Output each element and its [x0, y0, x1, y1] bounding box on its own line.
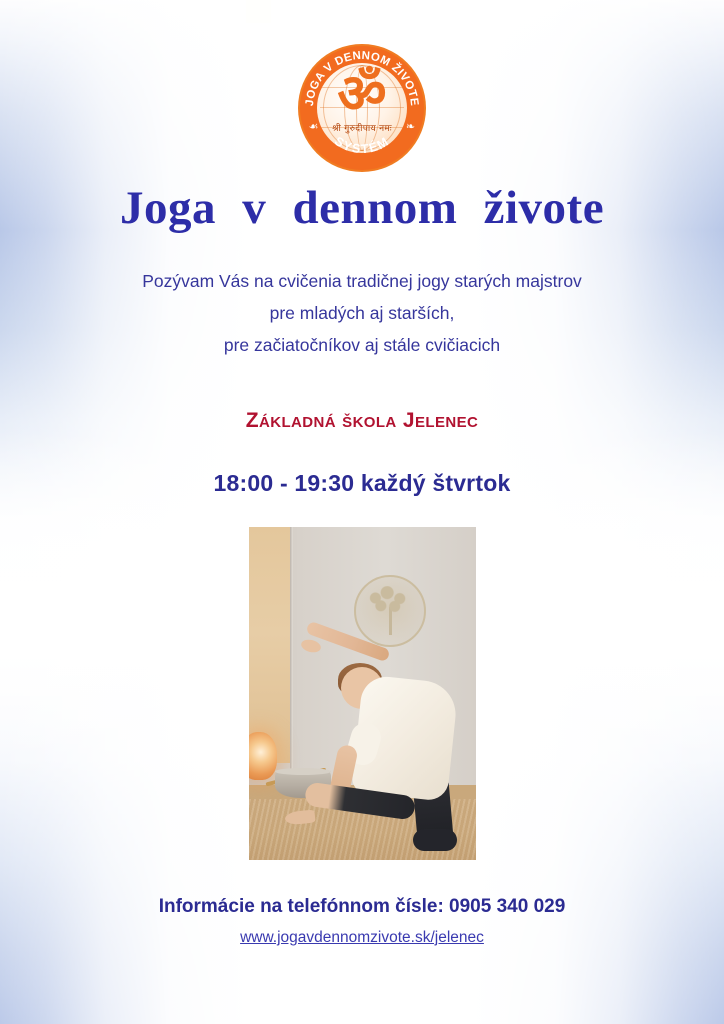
tree-of-life-icon	[354, 575, 426, 647]
venue-name: Základná škola Jelenec	[0, 409, 724, 433]
figure-back-knee	[413, 829, 457, 851]
top-white-artifact	[246, 0, 271, 23]
poster-title: Joga v dennom živote	[0, 180, 724, 236]
invitation-line-1: Pozývam Vás na cvičenia tradičnej jogy s…	[62, 265, 662, 297]
singing-bowl-rim	[275, 768, 331, 775]
svg-text:JOGA V DENNOM ŽIVOTE: JOGA V DENNOM ŽIVOTE	[304, 50, 420, 107]
invitation-paragraph: Pozývam Vás na cvičenia tradičnej jogy s…	[62, 265, 662, 361]
website-link-container: www.jogavdennomzivote.sk/jelenec	[0, 929, 724, 947]
logo-arc-top-label: JOGA V DENNOM ŽIVOTE	[304, 50, 420, 107]
invitation-line-3: pre začiatočníkov aj stále cvičiacich	[62, 329, 662, 361]
logo-ring-text: JOGA V DENNOM ŽIVOTE SYSTÉM	[300, 46, 424, 170]
invitation-line-2: pre mladých aj starších,	[62, 297, 662, 329]
schedule-text: 18:00 - 19:30 každý štvrtok	[0, 470, 724, 497]
yoga-poster: ॐ श्री गुरुदीपाय नमः JOGA V DENNOM ŽIVOT…	[0, 0, 724, 1024]
contact-phone-text: Informácie na telefónnom čísle: 0905 340…	[0, 896, 724, 918]
salt-lamp-icon	[249, 732, 277, 780]
logo-left-ornament-icon: ☙	[308, 122, 319, 133]
logo-container: ॐ श्री गुरुदीपाय नमः JOGA V DENNOM ŽIVOT…	[0, 46, 724, 170]
yoga-in-daily-life-logo: ॐ श्री गुरुदीपाय नमः JOGA V DENNOM ŽIVOT…	[300, 46, 424, 170]
yoga-photo	[249, 527, 476, 860]
photo-wall-corner-edge	[290, 527, 293, 795]
website-link[interactable]: www.jogavdennomzivote.sk/jelenec	[240, 929, 484, 946]
svg-text:SYSTÉM: SYSTÉM	[332, 134, 392, 156]
logo-arc-bottom-label: SYSTÉM	[332, 134, 392, 156]
photo-left-wood-panel	[249, 527, 291, 763]
logo-right-ornament-icon: ❧	[405, 122, 416, 133]
